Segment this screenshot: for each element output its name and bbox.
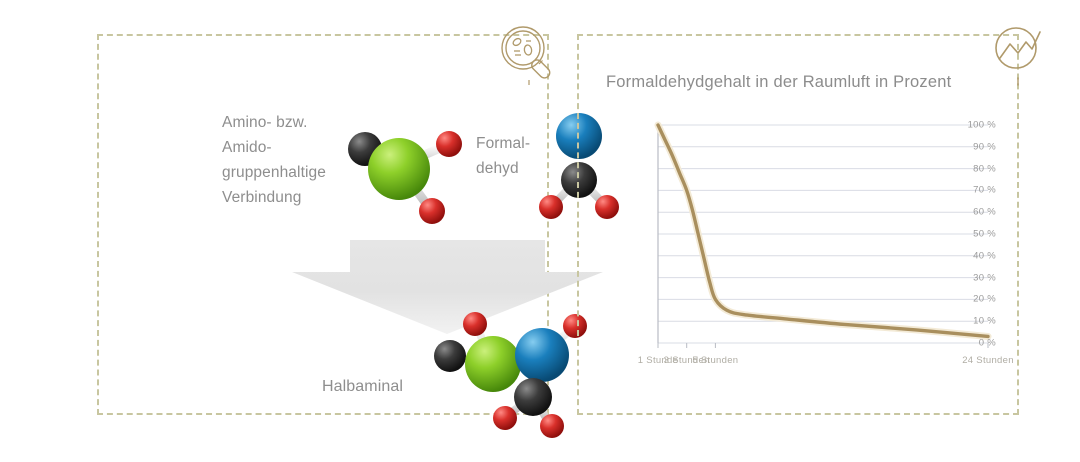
- y-axis-tick-label: 100 %: [942, 120, 996, 131]
- y-axis-tick-label: 10 %: [942, 316, 996, 327]
- trend-chart-icon: [988, 22, 1052, 86]
- y-axis-tick-label: 90 %: [942, 141, 996, 152]
- y-axis-tick-label: 80 %: [942, 163, 996, 174]
- slide-canvas: Amino- bzw. Amido- gruppenhaltige Verbin…: [0, 0, 1080, 462]
- chart-title: Formaldehydgehalt in der Raumluft in Pro…: [606, 73, 951, 92]
- amino-compound-molecule: [337, 119, 472, 231]
- series-line: [658, 125, 988, 336]
- series-halo: [658, 125, 988, 336]
- y-axis-tick-label: 50 %: [942, 229, 996, 240]
- y-axis-tick-label: 40 %: [942, 250, 996, 261]
- x-axis-tick-label: 24 Stunden: [962, 355, 1014, 366]
- y-axis-tick-label: 20 %: [942, 294, 996, 305]
- y-axis-tick-label: 30 %: [942, 272, 996, 283]
- x-axis-tick-label: 5 Stunden: [692, 355, 738, 366]
- reaction-panel: Amino- bzw. Amido- gruppenhaltige Verbin…: [97, 34, 549, 415]
- y-axis-tick-label: 0 %: [942, 338, 996, 349]
- chart-svg: [596, 118, 996, 383]
- magnifier-molecule-icon: [497, 22, 561, 86]
- line-chart: 100 %90 %80 %70 %60 %50 %40 %30 %20 %10 …: [596, 118, 996, 383]
- y-axis-tick-label: 70 %: [942, 185, 996, 196]
- y-axis-tick-label: 60 %: [942, 207, 996, 218]
